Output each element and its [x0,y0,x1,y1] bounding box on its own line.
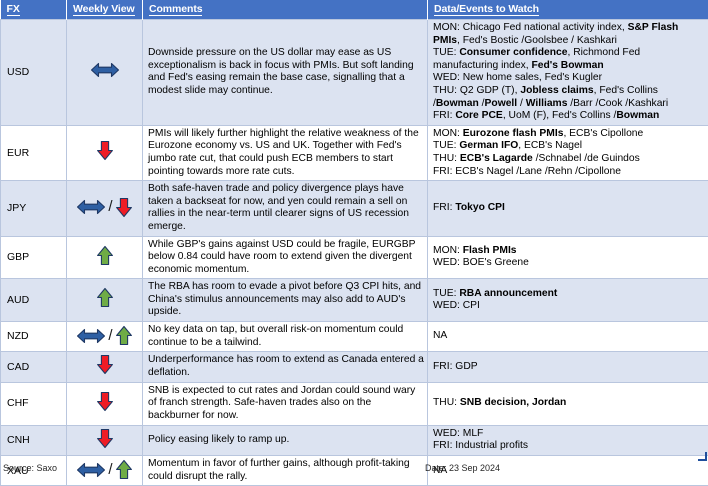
event-line: FRI: Core PCE, UoM (F), Fed's Collins /B… [433,110,705,123]
arrow-down-icon [115,197,133,218]
fx-currency-cell: EUR [1,125,67,180]
events-cell: TUE: RBA announcementWED: CPI [428,279,708,322]
fx-weekly-view-sheet: FX Weekly View Comments Data/Events to W… [0,0,708,481]
table-row: CNHPolicy easing likely to ramp up.WED: … [1,425,708,456]
fx-currency-cell: GBP [1,236,67,279]
table-row: NZD/No key data on tap, but overall risk… [1,322,708,352]
arrow-down-icon [96,391,114,412]
arrow-sideways-icon [90,62,120,78]
bearish-down-indicator [96,391,114,412]
event-line: WED: MLF [433,428,705,441]
fx-currency-cell: NZD [1,322,67,352]
weekly-view-cell: / [67,322,143,352]
bearish-down-indicator [96,140,114,161]
comment-cell: While GBP's gains against USD could be f… [143,236,428,279]
neutral-and-bullish-indicator: / [76,325,132,346]
fx-currency-cell: CHF [1,382,67,425]
weekly-view-cell [67,425,143,456]
events-cell: MON: Chicago Fed national activity index… [428,20,708,126]
comment-cell: No key data on tap, but overall risk-on … [143,322,428,352]
event-line: NA [433,330,705,343]
column-header-weekly-view-label: Weekly View [73,4,135,16]
event-line: FRI: GDP [433,361,705,374]
column-header-fx: FX [1,0,67,20]
table-row: CHFSNB is expected to cut rates and Jord… [1,382,708,425]
footer-source: Source: Saxo [3,463,57,473]
table-body: USDDownside pressure on the US dollar ma… [1,20,708,486]
arrow-sideways-icon [76,199,106,215]
events-cell: FRI: Tokyo CPI [428,181,708,236]
comment-cell: SNB is expected to cut rates and Jordan … [143,382,428,425]
event-line: FRI: ECB's Nagel /Lane /Rehn /Cipollone [433,166,705,179]
weekly-view-cell: / [67,181,143,236]
events-cell: FRI: GDP [428,352,708,383]
column-header-events: Data/Events to Watch [428,0,708,20]
events-cell: THU: SNB decision, Jordan [428,382,708,425]
fx-currency-cell: JPY [1,181,67,236]
arrow-up-icon [115,325,133,346]
bearish-down-indicator [96,428,114,449]
event-line: THU: Q2 GDP (T), Jobless claims, Fed's C… [433,85,705,110]
arrow-up-icon [96,287,114,308]
fx-currency-cell: USD [1,20,67,126]
arrow-down-icon [96,354,114,375]
fx-currency-cell: CAD [1,352,67,383]
resize-corner-mark [698,452,707,461]
comment-cell: PMIs will likely further highlight the r… [143,125,428,180]
weekly-view-cell [67,125,143,180]
arrow-sideways-icon [76,328,106,344]
comment-cell: Downside pressure on the US dollar may e… [143,20,428,126]
weekly-view-cell [67,236,143,279]
event-line: TUE: German IFO, ECB's Nagel [433,140,705,153]
comment-cell: Both safe-haven trade and policy diverge… [143,181,428,236]
column-header-comments: Comments [143,0,428,20]
bearish-down-indicator [96,354,114,375]
weekly-view-cell [67,279,143,322]
table-header: FX Weekly View Comments Data/Events to W… [1,0,708,20]
event-line: TUE: RBA announcement [433,288,705,301]
comment-cell: Underperformance has room to extend as C… [143,352,428,383]
event-line: THU: ECB's Lagarde /Schnabel /de Guindos [433,153,705,166]
event-line: FRI: Tokyo CPI [433,202,705,215]
column-header-weekly-view: Weekly View [67,0,143,20]
event-line: FRI: Industrial profits [433,440,705,453]
table-row: EURPMIs will likely further highlight th… [1,125,708,180]
fx-currency-cell: AUD [1,279,67,322]
table-row: USDDownside pressure on the US dollar ma… [1,20,708,126]
table-row: GBPWhile GBP's gains against USD could b… [1,236,708,279]
events-cell: WED: MLFFRI: Industrial profits [428,425,708,456]
event-line: MON: Eurozone flash PMIs, ECB's Cipollon… [433,128,705,141]
header-row: FX Weekly View Comments Data/Events to W… [1,0,708,20]
event-line: MON: Flash PMIs [433,245,705,258]
event-line: WED: New home sales, Fed's Kugler [433,72,705,85]
event-line: THU: SNB decision, Jordan [433,397,705,410]
event-line: WED: CPI [433,300,705,313]
separator-slash: / [107,329,113,343]
neutral-sideways-indicator [90,62,120,78]
arrow-up-icon [96,245,114,266]
events-cell: MON: Flash PMIsWED: BOE's Greene [428,236,708,279]
column-header-comments-label: Comments [149,4,202,16]
weekly-view-cell [67,20,143,126]
arrow-down-icon [96,140,114,161]
bullish-up-indicator [96,245,114,266]
events-cell: MON: Eurozone flash PMIs, ECB's Cipollon… [428,125,708,180]
weekly-view-cell [67,352,143,383]
event-line: TUE: Consumer confidence, Richmond Fed m… [433,47,705,72]
fx-currency-cell: CNH [1,425,67,456]
event-line: MON: Chicago Fed national activity index… [433,22,705,47]
bullish-up-indicator [96,287,114,308]
arrow-down-icon [96,428,114,449]
footer-date: Date: 23 Sep 2024 [425,463,500,473]
weekly-view-cell [67,382,143,425]
comment-cell: Policy easing likely to ramp up. [143,425,428,456]
neutral-and-bearish-indicator: / [76,197,132,218]
comment-cell: The RBA has room to evade a pivot before… [143,279,428,322]
fx-outlook-table: FX Weekly View Comments Data/Events to W… [0,0,708,486]
table-row: JPY/Both safe-haven trade and policy div… [1,181,708,236]
events-cell: NA [428,322,708,352]
column-header-fx-label: FX [7,4,20,16]
column-header-events-label: Data/Events to Watch [434,4,539,16]
table-row: CADUnderperformance has room to extend a… [1,352,708,383]
event-line: WED: BOE's Greene [433,257,705,270]
table-row: AUDThe RBA has room to evade a pivot bef… [1,279,708,322]
separator-slash: / [107,200,113,214]
footer: Source: Saxo Date: 23 Sep 2024 [0,462,708,481]
